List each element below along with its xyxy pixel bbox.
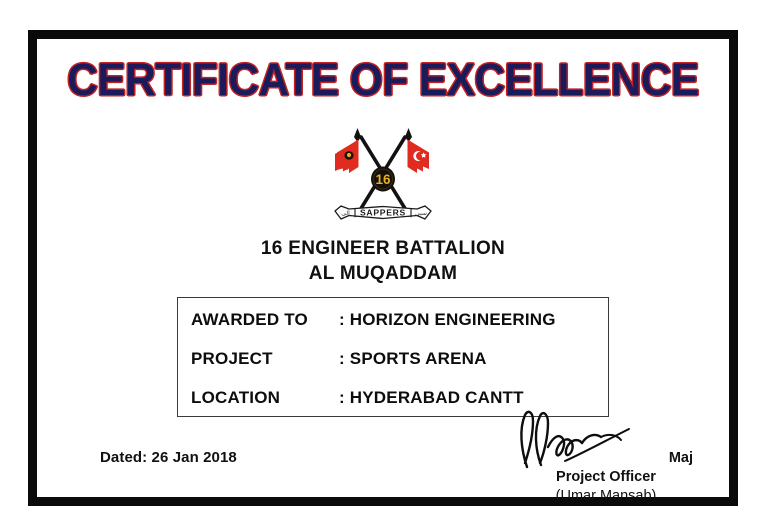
- svg-text:16: 16: [375, 172, 391, 187]
- signature-role: Project Officer: [497, 468, 715, 486]
- unit-name-block: 16 ENGINEER BATTALION AL MUQADDAM: [37, 236, 729, 286]
- svg-text:SAPPERS: SAPPERS: [360, 208, 406, 218]
- certificate-body: CERTIFICATE OF EXCELLENCE: [37, 39, 729, 497]
- detail-value-location: : HYDERABAD CANTT: [339, 388, 524, 408]
- emblem-flag-right: [408, 140, 430, 174]
- page-title: CERTIFICATE OF EXCELLENCE: [58, 57, 708, 102]
- detail-label-project: PROJECT: [191, 349, 339, 369]
- detail-value-project: : SPORTS ARENA: [339, 349, 487, 369]
- signature-name: (Umar Mansab): [497, 487, 715, 505]
- detail-row-awarded-to: AWARDED TO : HORIZON ENGINEERING: [191, 308, 600, 332]
- emblem-scroll-banner: SAPPERS الی سبی: [335, 206, 431, 219]
- detail-label-awarded-to: AWARDED TO: [191, 310, 339, 330]
- emblem-badge-16: 16: [371, 167, 395, 192]
- emblem-flag-left: [335, 140, 359, 174]
- detail-label-location: LOCATION: [191, 388, 339, 408]
- svg-text:الی: الی: [341, 210, 350, 217]
- signature-block: Maj Project Officer (Umar Mansab): [497, 407, 715, 502]
- dated-text: Dated: 26 Jan 2018: [100, 449, 237, 466]
- sappers-crossed-flags-emblem: 16 SAPPERS الی سبی: [327, 123, 439, 227]
- unit-name-line-2: AL MUQADDAM: [37, 261, 729, 286]
- award-details-box: AWARDED TO : HORIZON ENGINEERING PROJECT…: [177, 297, 609, 417]
- detail-value-awarded-to: : HORIZON ENGINEERING: [339, 310, 556, 330]
- certificate-frame: CERTIFICATE OF EXCELLENCE: [28, 30, 738, 506]
- detail-row-project: PROJECT : SPORTS ARENA: [191, 347, 600, 371]
- svg-text:سبی: سبی: [415, 210, 427, 217]
- unit-name-line-1: 16 ENGINEER BATTALION: [37, 236, 729, 261]
- signature-rank: Maj: [497, 449, 715, 467]
